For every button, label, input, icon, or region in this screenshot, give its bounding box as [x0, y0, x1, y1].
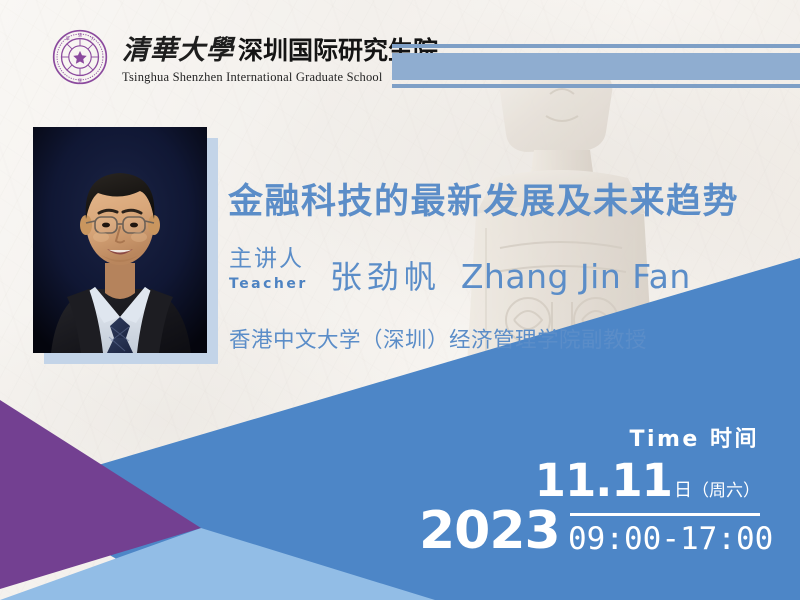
speaker-row: 主讲人 Teacher 张劲帆 Zhang Jin Fan	[229, 248, 691, 291]
stripe-line-top	[392, 44, 800, 48]
speaker-label-cn: 主讲人	[229, 248, 308, 271]
header-text-block: 清華大學 深圳国际研究生院 Tsinghua Shenzhen Internat…	[122, 28, 438, 85]
speaker-label-block: 主讲人 Teacher	[229, 248, 308, 291]
time-section-label: Time 时间	[629, 421, 759, 453]
event-hours: 09:00-17:00	[568, 521, 773, 558]
svg-text:學: 學	[78, 78, 82, 83]
decorative-stripe-bar	[392, 44, 800, 88]
event-year: 2023	[419, 505, 560, 557]
speaker-portrait-photo	[33, 127, 207, 353]
university-name-en: Tsinghua Shenzhen International Graduate…	[122, 70, 438, 85]
speaker-label-en: Teacher	[229, 277, 308, 291]
svg-text:華: 華	[66, 36, 70, 41]
event-date-unit: 日	[674, 476, 692, 502]
svg-text:清: 清	[78, 32, 82, 37]
speaker-affiliation: 香港中文大学（深圳）经济管理学院副教授	[229, 323, 647, 354]
header-logo-block: 清 華 大 學 清華大學 深圳国际研究生院 Tsinghua Shenzhen …	[52, 28, 438, 85]
event-weekday: （周六）	[692, 476, 760, 501]
portrait-container	[33, 127, 207, 353]
event-date-line: 11.11 日 （周六）	[535, 458, 760, 503]
page-title: 金融科技的最新发展及未来趋势	[228, 173, 739, 224]
poster-canvas: 清 華 大 學 清華大學 深圳国际研究生院 Tsinghua Shenzhen …	[0, 0, 800, 600]
stripe-line-bottom	[392, 84, 800, 88]
stripe-bar-thick	[392, 53, 800, 80]
speaker-name-cn: 张劲帆	[330, 261, 441, 293]
speaker-name-en: Zhang Jin Fan	[461, 260, 691, 293]
university-name-cn-main: 清華大學	[122, 28, 234, 67]
tsinghua-seal-icon: 清 華 大 學	[52, 29, 108, 85]
svg-text:大: 大	[90, 36, 94, 41]
time-divider-rule	[570, 513, 760, 516]
university-name-cn-row: 清華大學 深圳国际研究生院	[122, 28, 438, 67]
event-date: 11.11	[535, 458, 672, 503]
